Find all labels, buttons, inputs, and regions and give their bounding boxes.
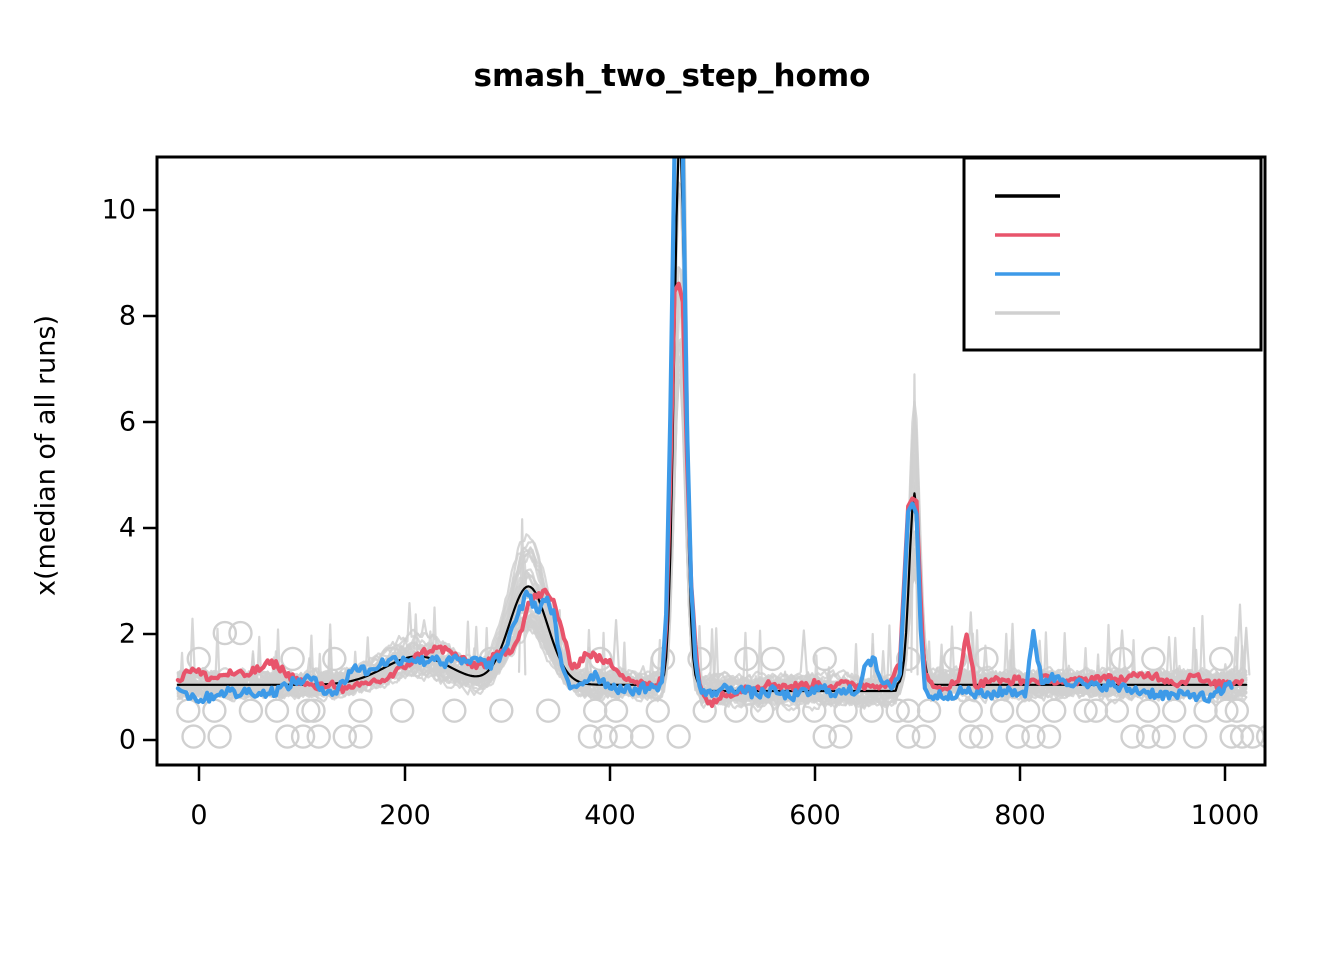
scatter-marker [443, 700, 465, 722]
scatter-marker [490, 700, 512, 722]
scatter-marker [1257, 726, 1279, 748]
scatter-marker [209, 726, 231, 748]
scatter-marker [610, 726, 632, 748]
scatter-marker [829, 726, 851, 748]
all-others-layer [178, 0, 1249, 712]
scatter-marker [991, 700, 1013, 722]
scatter-marker [1017, 700, 1039, 722]
scatter-marker [918, 700, 940, 722]
scatter-marker [1137, 700, 1159, 722]
scatter-marker [349, 726, 371, 748]
scatter-marker [960, 700, 982, 722]
scatter-marker [1184, 726, 1206, 748]
x-axis-ticks [199, 765, 1225, 781]
scatter-marker [647, 700, 669, 722]
scatter-marker [302, 700, 324, 722]
scatter-marker [1038, 726, 1060, 748]
scatter-marker [913, 726, 935, 748]
scatter-marker [1273, 726, 1295, 748]
scatter-marker [297, 700, 319, 722]
scatter-marker [266, 700, 288, 722]
y-axis-ticks [143, 210, 157, 740]
scatter-marker [537, 700, 559, 722]
scatter-marker [391, 700, 413, 722]
scatter-marker [668, 726, 690, 748]
chart-figure: smash_two_step_homo x(median of all runs… [0, 0, 1344, 960]
plot-canvas [0, 0, 1344, 960]
scatter-marker [762, 648, 784, 670]
scatter-marker [1195, 700, 1217, 722]
scatter-marker [631, 726, 653, 748]
scatter-marker [1163, 700, 1185, 722]
scatter-marker [308, 726, 330, 748]
scatter-marker [229, 622, 251, 644]
legend-box [964, 158, 1261, 350]
scatter-marker [1315, 726, 1337, 748]
scatter-marker [1299, 726, 1321, 748]
scatter-marker [240, 700, 262, 722]
scatter-marker [605, 700, 627, 722]
scatter-marker [1142, 648, 1164, 670]
scatter-marker [349, 700, 371, 722]
scatter-marker [282, 648, 304, 670]
scatter-marker [1335, 726, 1344, 748]
scatter-marker [203, 700, 225, 722]
scatter-marker [183, 726, 205, 748]
scatter-marker [1153, 726, 1175, 748]
scatter-marker [323, 648, 345, 670]
scatter-marker [584, 700, 606, 722]
scatter-marker [1210, 648, 1232, 670]
scatter-marker [1043, 700, 1065, 722]
